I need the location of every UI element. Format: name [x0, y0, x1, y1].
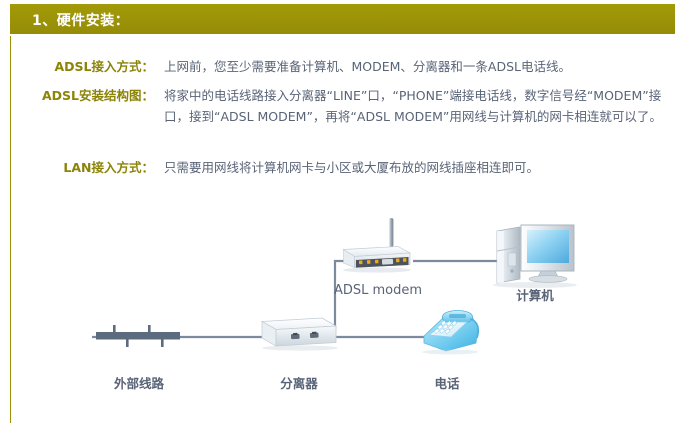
info-row-label: ADSL接入方式： [14, 56, 154, 75]
adsl-splitter-icon [262, 318, 338, 351]
info-row-label: ADSL安装结构图： [14, 85, 154, 104]
device-label-telephone: 电话 [415, 373, 479, 392]
info-row-adsl-access: ADSL接入方式： 上网前，您至少需要准备计算机、MODEM、分离器和一条ADS… [14, 56, 675, 80]
telephone-line-icon [96, 325, 180, 347]
info-row-body: 上网前，您至少需要准备计算机、MODEM、分离器和一条ADSL电话线。 [164, 59, 571, 74]
page-root: 1、硬件安装： ADSL接入方式： 上网前，您至少需要准备计算机、MODEM、分… [0, 0, 675, 423]
info-row-adsl-structure: ADSL安装结构图： 将家中的电话线路接入分离器“LINE”口，“PHONE”端… [14, 85, 675, 151]
info-row-label: LAN接入方式： [14, 157, 154, 176]
section-header-bar: 1、硬件安装： [10, 4, 675, 34]
page-title: 1、硬件安装： [32, 10, 129, 30]
wireless-router-icon [343, 218, 411, 273]
info-row-lan-access: LAN接入方式： 只需要用网线将计算机网卡与小区或大厦布放的网线插座相连即可。 [14, 157, 675, 181]
info-row-body: 将家中的电话线路接入分离器“LINE”口，“PHONE”端接电话线，数字信号经“… [164, 85, 675, 127]
desktop-computer-icon [493, 225, 577, 288]
device-label-adsl-modem: ADSL modem [328, 283, 428, 298]
info-row-body: 只需要用网线将计算机网卡与小区或大厦布放的网线插座相连即可。 [164, 160, 539, 175]
network-topology-diagram: ADSL modem 计算机 外部线路 分离器 电话 [0, 205, 675, 423]
device-label-external-line: 外部线路 [100, 373, 178, 392]
device-label-computer: 计算机 [498, 285, 572, 304]
cable-splitter-to-modem [335, 261, 358, 335]
telephone-icon [422, 311, 478, 355]
device-label-splitter: 分离器 [262, 373, 336, 392]
info-text-block: ADSL接入方式： 上网前，您至少需要准备计算机、MODEM、分离器和一条ADS… [14, 56, 675, 186]
